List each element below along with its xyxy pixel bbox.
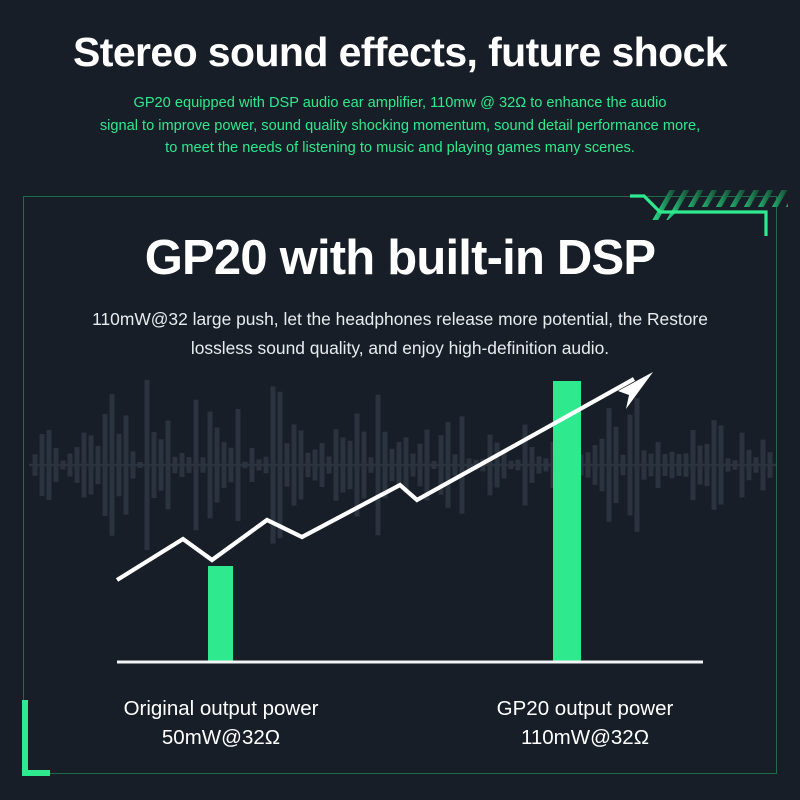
hero-subtitle-line-3: to meet the needs of listening to music … [40, 137, 760, 160]
card-body-line-1: 110mW@32 large push, let the headphones … [55, 305, 745, 334]
caption-gp20-label: GP20 output power [440, 694, 730, 723]
caption-gp20-value: 110mW@32Ω [440, 723, 730, 752]
caption-original-value: 50mW@32Ω [76, 723, 366, 752]
caption-gp20: GP20 output power 110mW@32Ω [440, 694, 730, 752]
chart-baseline [117, 661, 703, 664]
card-title: GP20 with built-in DSP [0, 228, 800, 288]
infographic-root: Stereo sound effects, future shock GP20 … [0, 0, 800, 800]
corner-accent-horizontal [22, 770, 50, 776]
bar-original-output [208, 566, 233, 662]
output-power-chart [0, 355, 800, 675]
hero-subtitle-line-1: GP20 equipped with DSP audio ear amplifi… [40, 92, 760, 115]
waveform-backdrop [29, 380, 776, 550]
hero-subtitle: GP20 equipped with DSP audio ear amplifi… [40, 92, 760, 160]
caption-original-label: Original output power [76, 694, 366, 723]
hero-title: Stereo sound effects, future shock [0, 27, 800, 77]
caption-original: Original output power 50mW@32Ω [76, 694, 366, 752]
hero-subtitle-line-2: signal to improve power, sound quality s… [40, 115, 760, 138]
corner-accent-vertical [22, 700, 28, 776]
